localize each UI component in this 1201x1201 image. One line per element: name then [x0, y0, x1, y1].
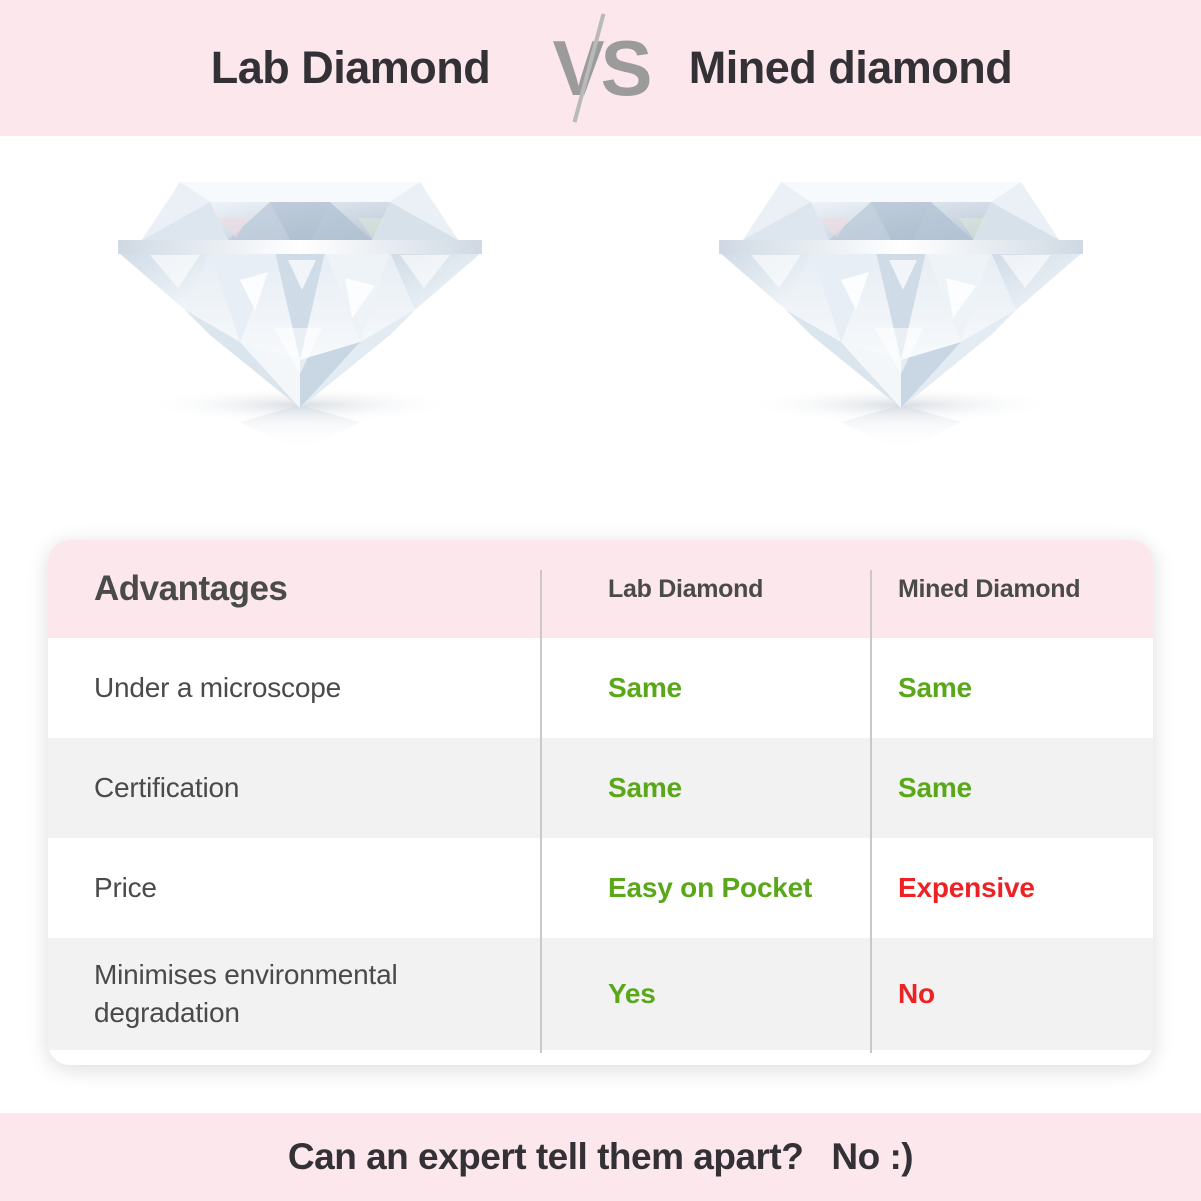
table-row: Under a microscope Same Same — [48, 638, 1153, 738]
row-mined-cell: Same — [870, 772, 1153, 804]
page-title-lab: Lab Diamond — [156, 42, 546, 94]
row-mined-value: No — [898, 978, 935, 1009]
row-label-cell: Under a microscope — [48, 669, 540, 707]
versus-label: VS — [552, 29, 648, 107]
row-mined-value: Same — [898, 772, 972, 803]
row-mined-cell: Expensive — [870, 872, 1153, 904]
footer-answer: No :) — [831, 1136, 913, 1178]
footer-question: Can an expert tell them apart? — [288, 1136, 803, 1178]
page-title-mined: Mined diamond — [656, 42, 1046, 94]
header-label-lab: Lab Diamond — [608, 575, 763, 603]
table-row: Price Easy on Pocket Expensive — [48, 838, 1153, 938]
diamond-image-area — [0, 136, 1201, 528]
row-lab-cell: Yes — [540, 978, 870, 1010]
header-label-advantages: Advantages — [94, 569, 287, 608]
footer-band: Can an expert tell them apart? No :) — [0, 1113, 1201, 1201]
diamond-image-mined — [691, 160, 1111, 460]
lab-diamond-icon — [90, 160, 510, 460]
row-mined-cell: Same — [870, 672, 1153, 704]
table-header-row: Advantages Lab Diamond Mined Diamond — [48, 540, 1153, 638]
table-header-advantages: Advantages — [48, 569, 540, 609]
row-label: Under a microscope — [94, 672, 341, 703]
row-label-cell: Price — [48, 869, 540, 907]
row-lab-cell: Easy on Pocket — [540, 872, 870, 904]
header-band: Lab Diamond VS Mined diamond — [0, 0, 1201, 136]
row-lab-cell: Same — [540, 672, 870, 704]
row-label: Certification — [94, 772, 239, 803]
table-header-lab: Lab Diamond — [540, 575, 870, 604]
header-label-mined: Mined Diamond — [898, 575, 1080, 603]
row-lab-value: Easy on Pocket — [608, 872, 812, 903]
column-divider-second — [870, 570, 872, 1053]
row-label-cell: Certification — [48, 769, 540, 807]
column-divider-first — [540, 570, 542, 1053]
table-row: Minimises environmental degradation Yes … — [48, 938, 1153, 1050]
row-lab-value: Yes — [608, 978, 656, 1009]
row-lab-value: Same — [608, 672, 682, 703]
row-label: Minimises environmental degradation — [94, 959, 398, 1028]
diamond-image-lab — [90, 160, 510, 460]
row-label-cell: Minimises environmental degradation — [48, 956, 540, 1032]
mined-diamond-icon — [691, 160, 1111, 460]
row-lab-cell: Same — [540, 772, 870, 804]
versus-badge: VS — [546, 8, 656, 128]
comparison-table-card: Advantages Lab Diamond Mined Diamond Und… — [48, 540, 1153, 1065]
row-mined-value: Same — [898, 672, 972, 703]
row-mined-value: Expensive — [898, 872, 1035, 903]
row-label: Price — [94, 872, 157, 903]
row-mined-cell: No — [870, 978, 1153, 1010]
row-lab-value: Same — [608, 772, 682, 803]
table-header-mined: Mined Diamond — [870, 575, 1153, 604]
table-row: Certification Same Same — [48, 738, 1153, 838]
